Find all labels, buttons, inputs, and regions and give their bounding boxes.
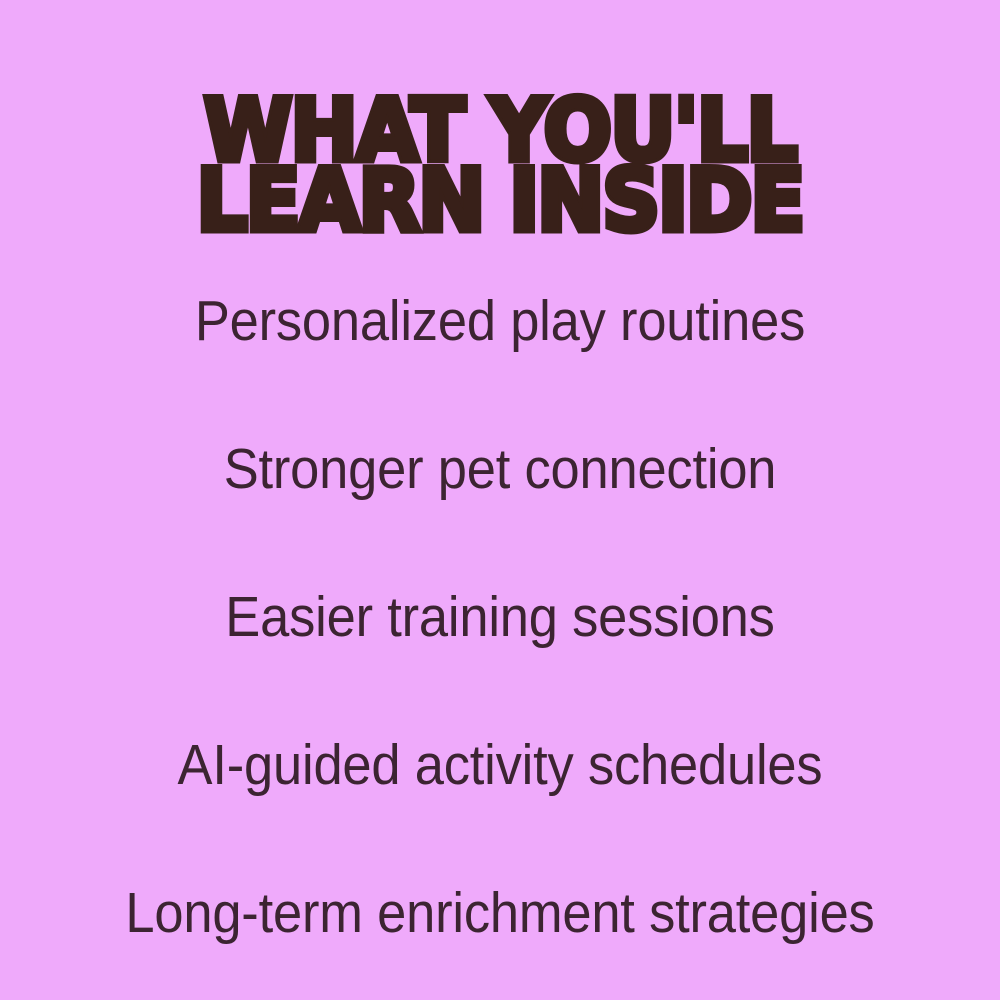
promo-slide: What You'll Learn Inside Personalized pl…	[0, 0, 1000, 1000]
list-item: Long-term enrichment strategies	[40, 840, 960, 988]
list-item: AI-guided activity schedules	[40, 692, 960, 840]
list-item: Stronger pet connection	[40, 396, 960, 544]
list-item: Personalized play routines	[40, 248, 960, 396]
page-title-line-2: Learn Inside	[35, 166, 965, 236]
list-item: Easier training sessions	[40, 544, 960, 692]
benefits-list: Personalized play routines Stronger pet …	[0, 248, 1000, 988]
page-title: What You'll Learn Inside	[35, 96, 965, 236]
